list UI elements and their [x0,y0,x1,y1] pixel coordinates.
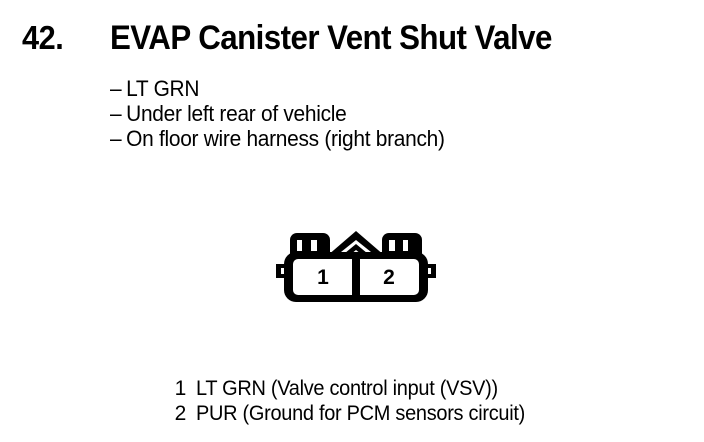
list-item-label: LT GRN [126,76,199,101]
connector-body [284,252,428,302]
dash-icon: – [110,76,126,101]
page-title: 42. EVAP Canister Vent Shut Valve [0,18,704,62]
cavity-number-1: 1 [317,266,329,289]
legend-pin-number: 2 [0,401,196,426]
dash-icon: – [110,101,126,126]
list-item: –Under left rear of vehicle [110,101,604,126]
legend-pin-description: PUR (Ground for PCM sensors circuit) [196,401,525,426]
title-heading: EVAP Canister Vent Shut Valve [110,18,552,58]
cavity-number-2: 2 [383,266,395,289]
list-item: –LT GRN [110,76,604,101]
dash-icon: – [110,126,126,151]
legend-pin-description: LT GRN (Valve control input (VSV)) [196,376,498,401]
list-item-label: Under left rear of vehicle [126,101,346,126]
detail-list: –LT GRN –Under left rear of vehicle –On … [110,76,630,151]
list-item-label: On floor wire harness (right branch) [126,126,444,151]
legend-row: 1LT GRN (Valve control input (VSV)) [0,376,704,401]
legend-pin-number: 1 [0,376,196,401]
list-item: –On floor wire harness (right branch) [110,126,604,151]
title-item-number: 42. [22,18,63,58]
connector-diagram: 1 2 [276,226,436,308]
legend-row: 2PUR (Ground for PCM sensors circuit) [0,401,704,426]
pin-legend: 1LT GRN (Valve control input (VSV)) 2PUR… [0,376,704,426]
